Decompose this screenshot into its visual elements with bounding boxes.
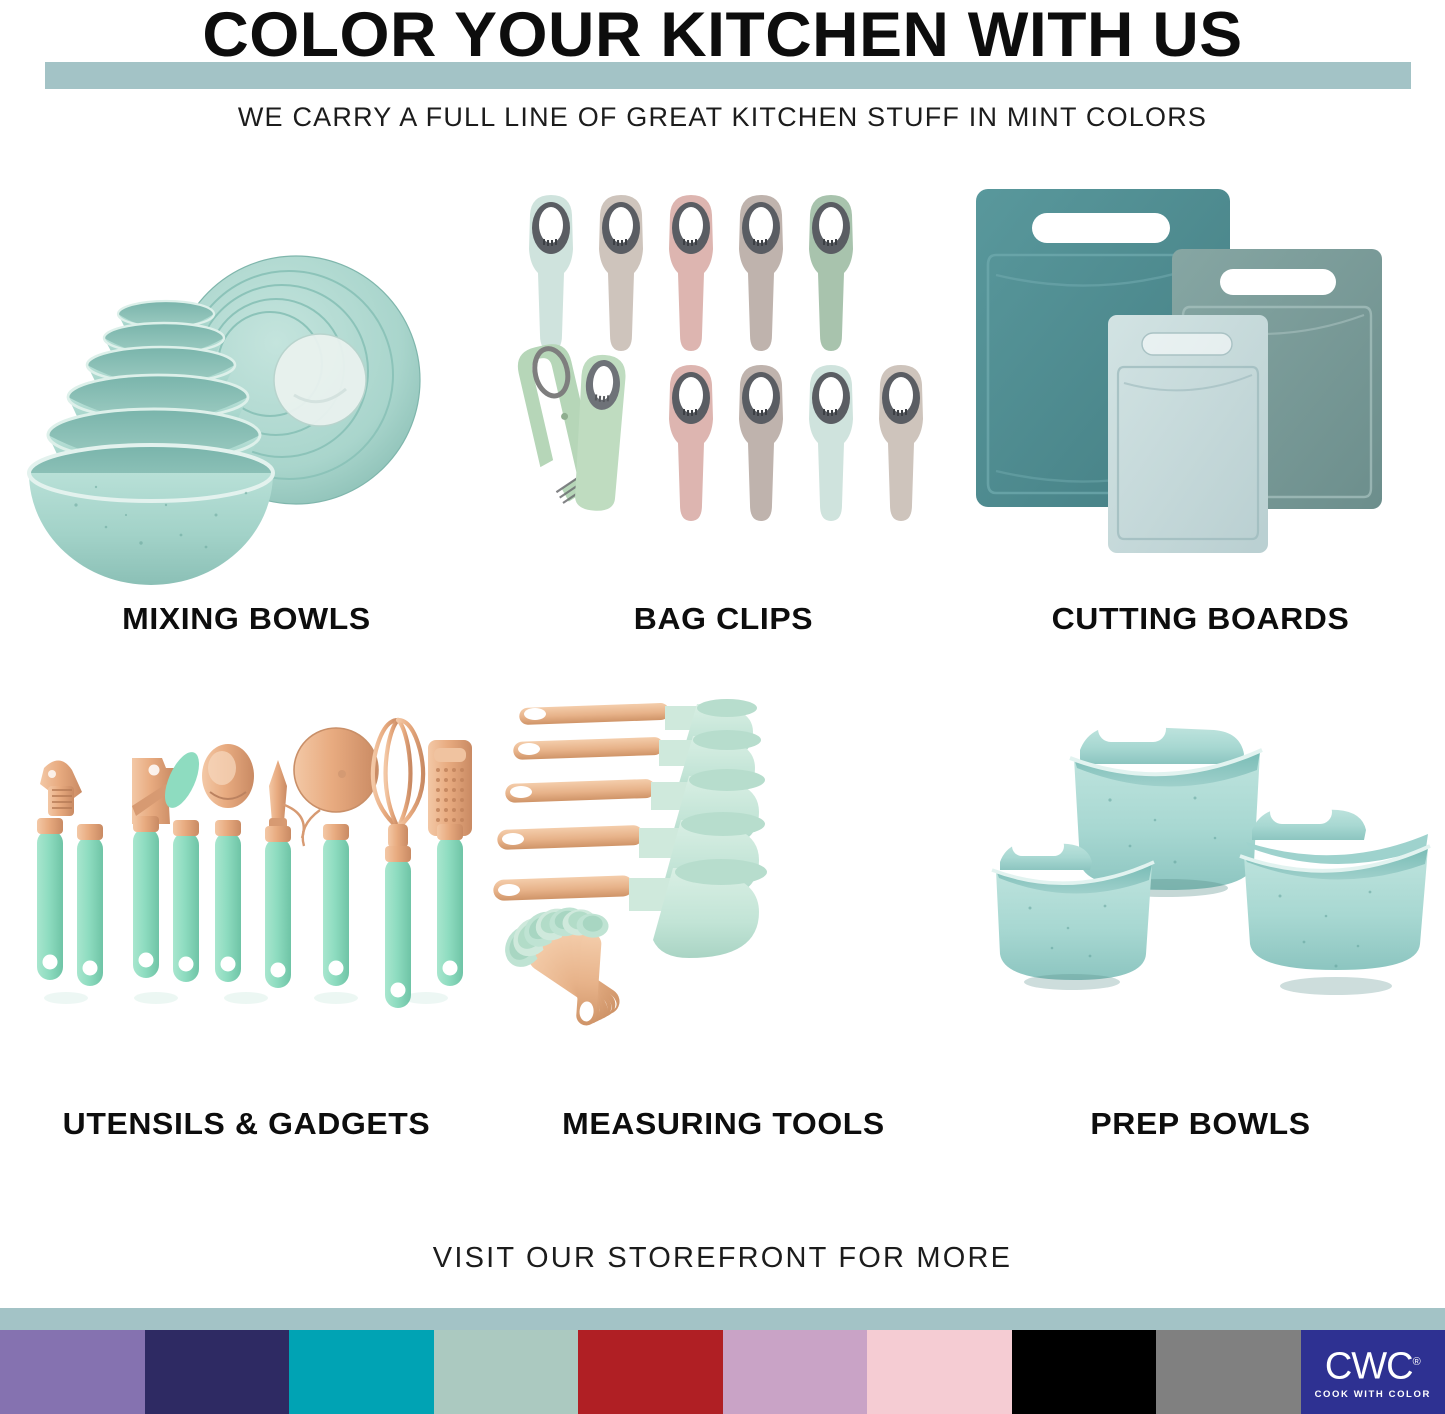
category-label: BAG CLIPS	[476, 601, 971, 637]
swatch-purple	[0, 1330, 145, 1414]
category-grid: MIXING BOWLS	[0, 175, 1445, 1185]
category-label: CUTTING BOARDS	[953, 601, 1445, 637]
page-title: COLOR YOUR KITCHEN WITH US	[0, 2, 1445, 68]
swatch-navy	[145, 1330, 290, 1414]
category-card-cutting-boards[interactable]: CUTTING BOARDS	[960, 175, 1441, 675]
category-label: UTENSILS & GADGETS	[0, 1106, 494, 1142]
mixing-bowls-image	[6, 175, 487, 575]
swatch-teal	[289, 1330, 434, 1414]
prep-bowls-image	[960, 680, 1441, 1080]
marketing-banner: COLOR YOUR KITCHEN WITH US WE CARRY A FU…	[0, 0, 1445, 1414]
swatch-black	[1012, 1330, 1157, 1414]
measuring-tools-image	[483, 680, 964, 1080]
swatch-blush-pink	[867, 1330, 1012, 1414]
utensil-ice-cream-scoop	[202, 744, 254, 982]
utensil-peeler	[265, 760, 304, 988]
footer-accent-band	[0, 1308, 1445, 1330]
category-card-prep-bowls[interactable]: PREP BOWLS	[960, 680, 1441, 1180]
utensil-pizza-cutter	[294, 728, 378, 986]
category-label: MEASURING TOOLS	[476, 1106, 971, 1142]
bag-clips-image	[483, 175, 964, 575]
registered-trademark-icon: ®	[1413, 1356, 1421, 1368]
prep-bowl-large	[1070, 716, 1262, 897]
swatch-mauve	[723, 1330, 868, 1414]
utensil-garlic-press-arm	[77, 824, 103, 986]
utensil-whisk	[373, 720, 423, 1008]
utensil-grater	[428, 740, 472, 986]
logo-tagline: COOK WITH COLOR	[1315, 1389, 1431, 1401]
bag-clip-row-bottom	[514, 340, 923, 521]
cutting-boards-image	[960, 175, 1441, 575]
storefront-cta-text[interactable]: VISIT OUR STOREFRONT FOR MORE	[0, 1242, 1445, 1275]
color-swatch-strip: CWC® COOK WITH COLOR	[0, 1330, 1445, 1414]
prep-bowl-medium	[1240, 800, 1430, 995]
bag-clip-row-top	[529, 195, 853, 351]
swatch-sage	[434, 1330, 579, 1414]
swatch-red	[578, 1330, 723, 1414]
category-label: PREP BOWLS	[953, 1106, 1445, 1142]
category-label: MIXING BOWLS	[0, 601, 494, 637]
brand-logo[interactable]: CWC® COOK WITH COLOR	[1301, 1330, 1445, 1414]
category-card-measuring-tools[interactable]: MEASURING TOOLS	[483, 680, 964, 1180]
measuring-spoons	[497, 903, 629, 1029]
swatch-gray	[1156, 1330, 1301, 1414]
category-card-utensils-gadgets[interactable]: UTENSILS & GADGETS	[6, 680, 487, 1180]
page-subtitle: WE CARRY A FULL LINE OF GREAT KITCHEN ST…	[0, 100, 1445, 134]
cutting-board-small	[1108, 315, 1268, 553]
utensils-gadgets-image	[6, 680, 487, 1080]
category-card-mixing-bowls[interactable]: MIXING BOWLS	[6, 175, 487, 675]
utensil-garlic-press	[37, 760, 82, 980]
category-card-bag-clips[interactable]: BAG CLIPS	[483, 175, 964, 675]
logo-text: CWC	[1325, 1346, 1413, 1388]
logo-wordmark: CWC®	[1325, 1343, 1421, 1386]
